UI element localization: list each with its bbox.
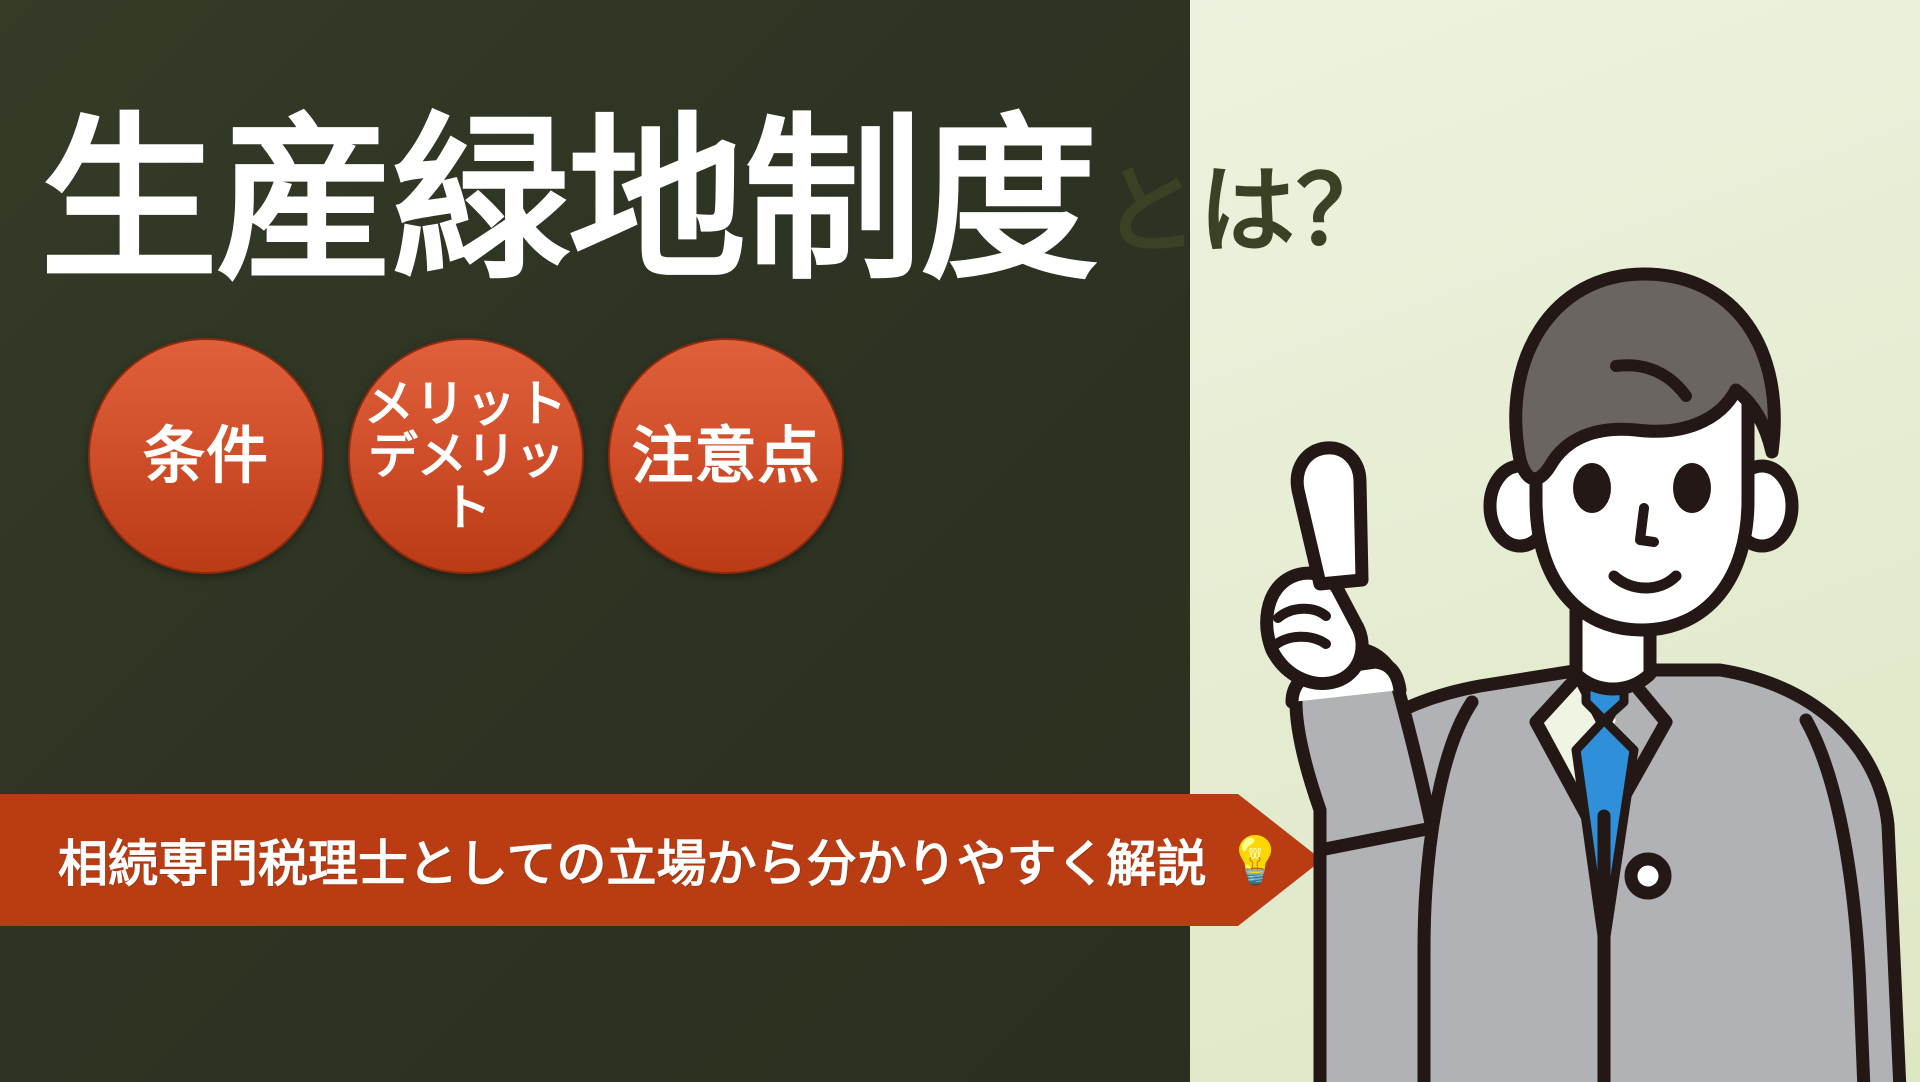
topic-circle-label-line1: メリット bbox=[364, 378, 568, 430]
topic-circle-jouken[interactable]: 条件 bbox=[88, 338, 324, 574]
topic-circle-label-line1: 注意点 bbox=[631, 424, 820, 488]
topic-circle-merit-demerit[interactable]: メリット デメリット bbox=[348, 338, 584, 574]
businessman-pointing-illustration bbox=[1020, 250, 1920, 1082]
thumbnail-canvas: 生産緑地制度 とは？ 条件 メリット デメリット 注意点 相続専門税理士としての… bbox=[0, 0, 1920, 1082]
topic-circle-group: 条件 メリット デメリット 注意点 bbox=[88, 338, 844, 574]
page-title: 生産緑地制度 bbox=[40, 114, 1096, 288]
topic-circle-chuiten[interactable]: 注意点 bbox=[608, 338, 844, 574]
topic-circle-label-line1: 条件 bbox=[143, 424, 269, 488]
topic-circle-label-line2: デメリット bbox=[350, 430, 582, 534]
